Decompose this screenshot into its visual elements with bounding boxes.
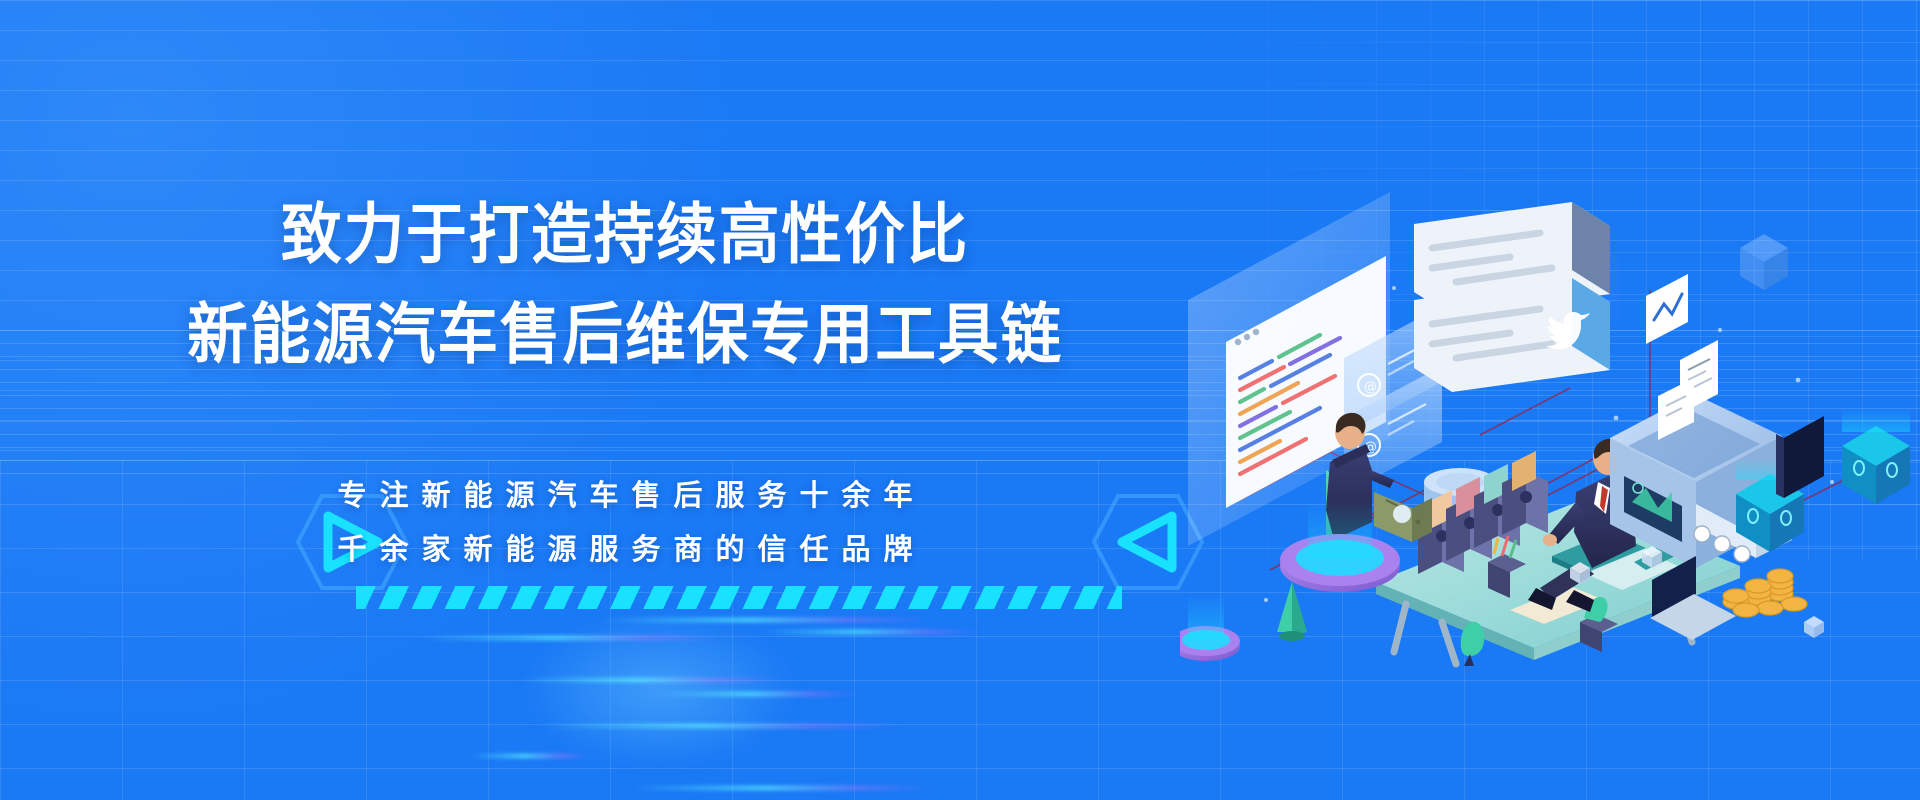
cyan-data-cube — [1842, 408, 1910, 504]
headline-line-1: 致力于打造持续高性价比 — [50, 196, 1200, 274]
copy-block: 致力于打造持续高性价比 新能源汽车售后维保专用工具链 专注新能源汽车售后服务十余… — [0, 0, 1250, 800]
floating-cube — [1740, 234, 1788, 290]
purple-podium — [1180, 594, 1240, 661]
floating-cube — [1804, 616, 1824, 638]
subheadline-line-2: 千余家新能源服务商的信任品牌 — [0, 526, 1250, 572]
hero-banner: 致力于打造持续高性价比 新能源汽车售后维保专用工具链 专注新能源汽车售后服务十余… — [0, 0, 1920, 800]
line-chart-document — [1646, 274, 1688, 344]
stripe-bar-decoration — [356, 586, 1122, 609]
headline-line-2: 新能源汽车售后维保专用工具链 — [50, 296, 1200, 374]
tablet-device — [1776, 416, 1824, 498]
sphere-node — [1393, 505, 1411, 523]
isometric-illustration: @ @ — [1180, 170, 1920, 670]
subheadline-line-1: 专注新能源汽车售后服务十余年 — [0, 472, 1250, 518]
cone-tree — [1277, 582, 1307, 641]
svg-text:@: @ — [1364, 380, 1377, 395]
